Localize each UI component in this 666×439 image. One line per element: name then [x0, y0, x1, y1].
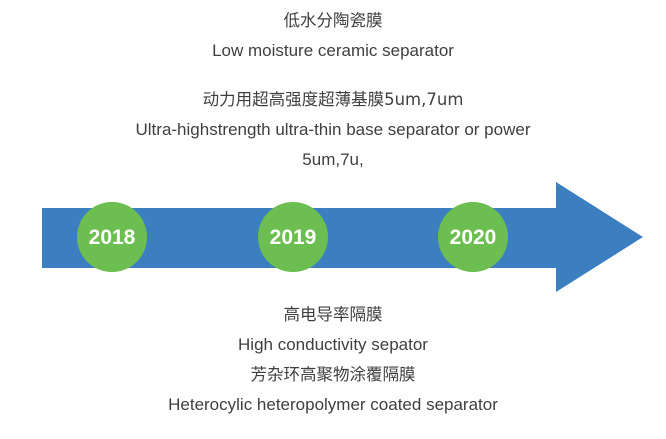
caption-line-zh: 动力用超高强度超薄基膜5um,7um: [0, 85, 666, 115]
milestone-2018[interactable]: 2018: [77, 202, 147, 272]
caption-line-zh: 高电导率隔膜: [0, 300, 666, 330]
caption-line-en-cont: 5um,7u,: [0, 145, 666, 175]
milestone-2020[interactable]: 2020: [438, 202, 508, 272]
caption-line-en-2: Heterocylic heteropolymer coated separat…: [0, 390, 666, 420]
top-caption-group-a: 低水分陶瓷膜 Low moisture ceramic separator: [0, 6, 666, 66]
milestone-label: 2018: [89, 227, 136, 248]
milestone-2019[interactable]: 2019: [258, 202, 328, 272]
top-caption-group-b: 动力用超高强度超薄基膜5um,7um Ultra-highstrength ul…: [0, 85, 666, 175]
caption-line-en: Ultra-highstrength ultra-thin base separ…: [0, 115, 666, 145]
milestone-label: 2019: [270, 227, 317, 248]
caption-line-en: High conductivity sepator: [0, 330, 666, 360]
timeline-diagram-canvas: 低水分陶瓷膜 Low moisture ceramic separator 动力…: [0, 0, 666, 439]
bottom-caption-group: 高电导率隔膜 High conductivity sepator 芳杂环高聚物涂…: [0, 300, 666, 420]
milestone-label: 2020: [450, 227, 497, 248]
caption-line-zh-2: 芳杂环高聚物涂覆隔膜: [0, 360, 666, 390]
caption-line-en: Low moisture ceramic separator: [0, 36, 666, 66]
caption-line-zh: 低水分陶瓷膜: [0, 6, 666, 36]
